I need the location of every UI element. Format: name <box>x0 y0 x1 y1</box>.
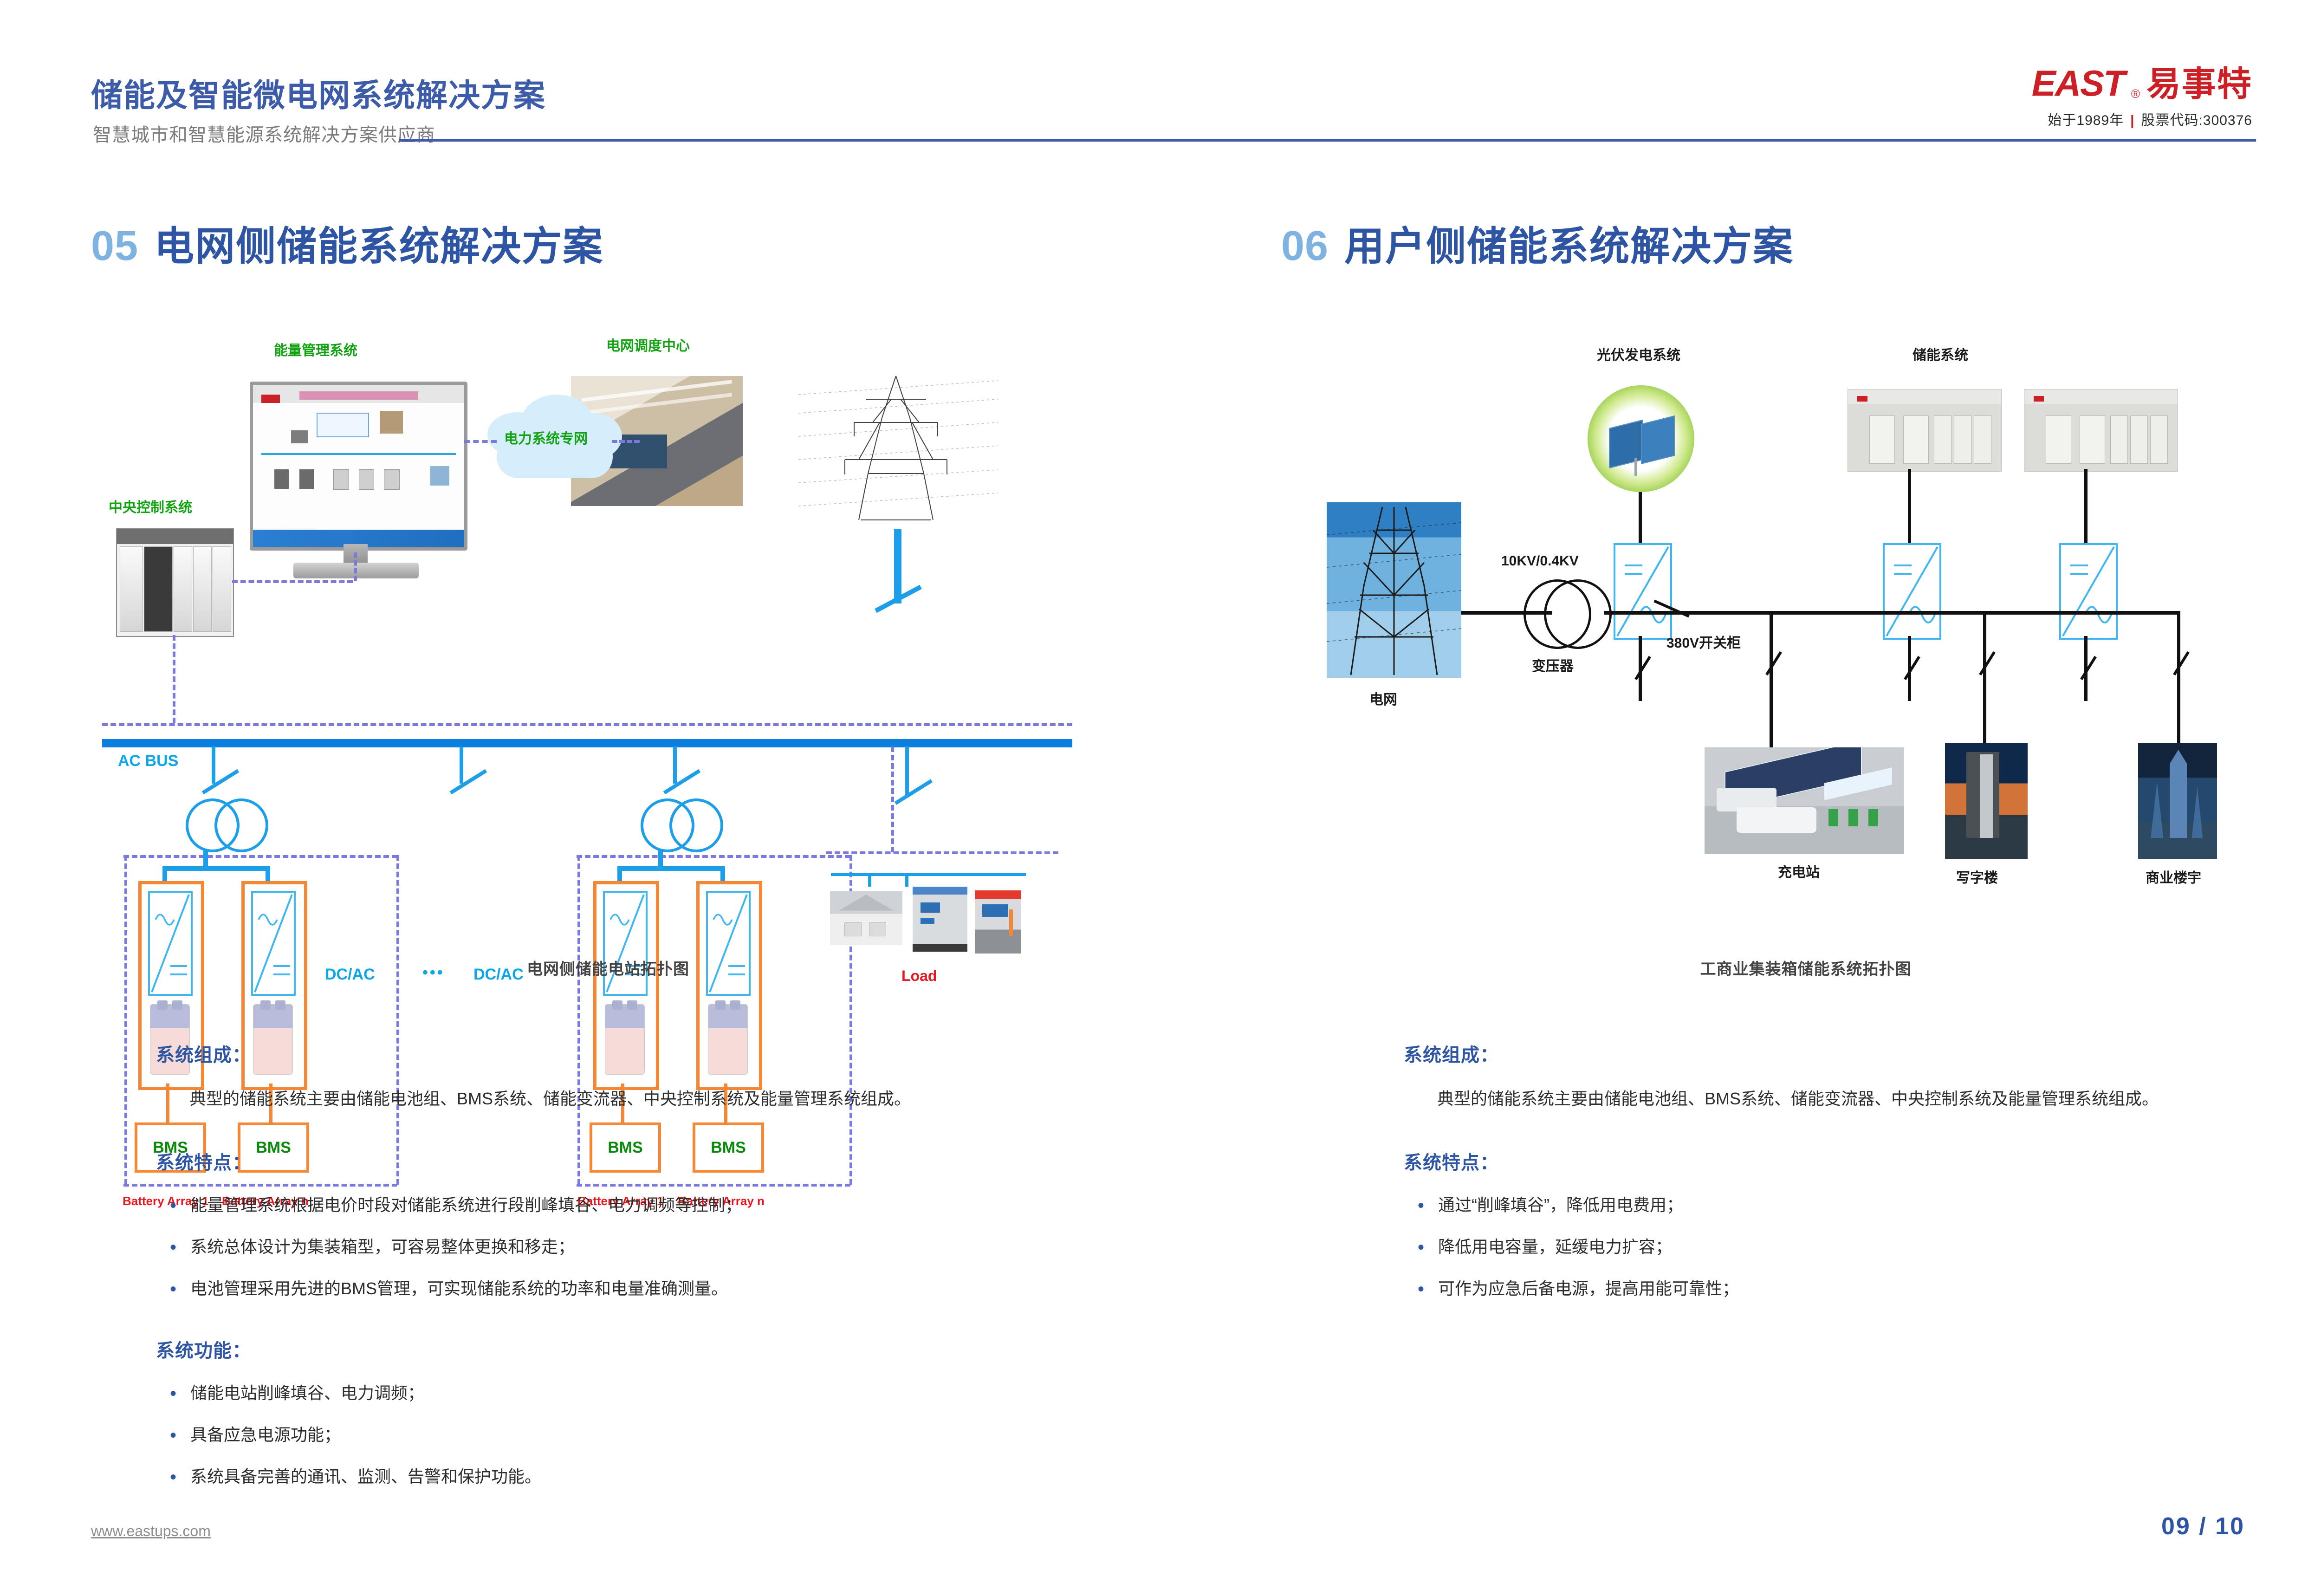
left-features-heading: 系统特点： <box>156 1148 1094 1174</box>
comm-loop-dashed <box>124 855 127 1185</box>
user-side-topology-diagram: 光伏发电系统 储能系统 <box>1300 334 2312 947</box>
list-item: 系统具备完善的通讯、监测、告警和保护功能。 <box>156 1464 1094 1490</box>
ems-screen-battery-5 <box>384 469 400 490</box>
comm-loop-dashed <box>123 855 397 858</box>
comm-link-dashed <box>612 440 640 443</box>
transformer-symbol <box>1524 579 1607 644</box>
ems-screen-title-text <box>299 391 418 400</box>
xfmr-to-pcs-wire <box>617 866 724 871</box>
breaker-symbol <box>2173 651 2190 675</box>
logo-founded: 始于1989年 <box>2048 113 2124 128</box>
comm-link-dashed <box>464 440 497 443</box>
right-features-heading: 系统特点： <box>1404 1148 2321 1174</box>
section-number: 06 <box>1281 222 1329 270</box>
left-column: 能量管理系统 电网调度中心 电力系统专网 <box>102 334 1114 947</box>
pv-inverter-symbol <box>1614 543 1672 640</box>
right-composition-body: 典型的储能系统主要由储能电池组、BMS系统、储能变流器、中央控制系统及能量管理系… <box>1404 1084 2321 1113</box>
left-functions-list: 储能电站削峰填谷、电力调频； 具备应急电源功能； 系统具备完善的通讯、监测、告警… <box>156 1380 1094 1489</box>
right-features-list: 通过“削峰填谷”，降低用电费用； 降低用电容量，延缓电力扩容； 可作为应急后备电… <box>1404 1192 2321 1301</box>
section-heading-06: 06 用户侧储能系统解决方案 <box>1281 214 1794 272</box>
logo-stock-code: 股票代码:300376 <box>2141 113 2252 128</box>
right-composition-heading: 系统组成： <box>1404 1040 2321 1067</box>
ems-label: 能量管理系统 <box>274 339 357 359</box>
ess-drop-wire-2 <box>2084 469 2088 543</box>
switchgear-label: 380V开关柜 <box>1666 631 1741 652</box>
breaker-symbol <box>2080 656 2097 680</box>
commercial-building-photo <box>2138 743 2217 859</box>
comm-link-dashed <box>173 635 175 723</box>
breaker-symbol <box>895 779 933 805</box>
left-diagram-caption: 电网侧储能电站拓扑图 <box>102 956 1114 979</box>
page-title: 储能及智能微电网系统解决方案 <box>91 70 546 116</box>
ems-monitor <box>250 382 467 551</box>
header-divider <box>399 139 2256 142</box>
right-text-block: 系统组成： 典型的储能系统主要由储能电池组、BMS系统、储能变流器、中央控制系统… <box>1404 1040 2321 1336</box>
xfmr-to-pcs-wire <box>162 866 269 871</box>
left-features-list: 能量管理系统根据电价时段对储能系统进行段削峰填谷、电力调频等控制； 系统总体设计… <box>156 1192 1094 1301</box>
transformer-ratio-label: 10KV/0.4KV <box>1501 553 1579 569</box>
load-drop-wire <box>868 873 871 887</box>
bus-drop-wire <box>673 746 677 784</box>
pcs-inverter-symbol <box>148 891 193 996</box>
left-composition-body: 典型的储能系统主要由储能电池组、BMS系统、储能变流器、中央控制系统及能量管理系… <box>156 1084 1094 1113</box>
ems-screen-battery-3 <box>333 469 349 490</box>
plc-module <box>213 546 231 632</box>
load-feeder-1 <box>1770 611 1773 750</box>
section-number: 05 <box>91 222 138 270</box>
right-diagram-caption: 工商业集装箱储能系统拓扑图 <box>1300 956 2312 979</box>
comm-link-dashed <box>891 746 894 852</box>
logo-tagline: 始于1989年|股票代码:300376 <box>2032 109 2252 129</box>
house-load-photo <box>830 891 902 945</box>
plc-module <box>193 546 212 632</box>
load-feeder-bus <box>831 873 1026 876</box>
ems-screen-panel <box>317 413 369 437</box>
ess-container-photo-2 <box>2024 389 2178 472</box>
charging-station-photo <box>1705 747 1904 854</box>
left-text-block: 系统组成： 典型的储能系统主要由储能电池组、BMS系统、储能变流器、中央控制系统… <box>156 1040 1094 1524</box>
pv-drop-wire <box>1639 492 1642 543</box>
ems-monitor-screen <box>253 385 464 547</box>
ess-system-label: 储能系统 <box>1913 344 1968 364</box>
breaker-symbol <box>1904 656 1920 680</box>
bus-drop-wire <box>905 746 909 798</box>
breaker-symbol <box>1634 656 1651 680</box>
ess-container-photo-1 <box>1848 389 2002 472</box>
left-functions-heading: 系统功能： <box>156 1336 1094 1362</box>
page-subtitle: 智慧城市和智慧能源系统解决方案供应商 <box>93 120 435 147</box>
pcs-inverter-symbol <box>603 891 648 996</box>
grid-tower-photo <box>1327 502 1461 678</box>
transformer-symbol <box>641 798 729 850</box>
ems-screen-bus <box>261 453 456 455</box>
ess-drop-wire-1 <box>1908 469 1911 543</box>
pcs-inverter-symbol <box>251 891 296 996</box>
page-header: 储能及智能微电网系统解决方案 智慧城市和智慧能源系统解决方案供应商 EAST ®… <box>0 0 2321 167</box>
ess-inverter-symbol-2 <box>2059 543 2118 640</box>
pcs-inverter-symbol <box>706 891 751 996</box>
ev-charger-photo <box>975 890 1021 954</box>
load-drop-wire <box>905 873 908 887</box>
ems-screen-photo <box>380 411 403 434</box>
load-label-commercial: 商业楼宇 <box>2146 866 2201 887</box>
transformer-label: 变压器 <box>1532 655 1574 675</box>
load-label-charging-station: 充电站 <box>1778 861 1820 881</box>
list-item: 具备应急电源功能； <box>156 1422 1094 1448</box>
load-label-office: 写字楼 <box>1956 866 1998 887</box>
grid-side-topology-diagram: 能量管理系统 电网调度中心 电力系统专网 <box>102 334 1114 947</box>
breaker-symbol <box>663 769 701 794</box>
list-item: 电池管理采用先进的BMS管理，可实现储能系统的功率和电量准确测量。 <box>156 1276 1094 1302</box>
right-column: 光伏发电系统 储能系统 <box>1300 334 2312 947</box>
private-network-label: 电力系统专网 <box>504 427 588 448</box>
left-composition-heading: 系统组成： <box>156 1040 1094 1067</box>
plc-rack <box>116 528 234 637</box>
breaker-symbol <box>1979 651 1996 675</box>
list-item: 可作为应急后备电源，提高用能可靠性； <box>1404 1276 2321 1302</box>
page-number: 09 / 10 <box>2161 1512 2245 1540</box>
breaker-symbol <box>450 769 487 794</box>
pv-system-icon <box>1588 385 1694 492</box>
ess-inverter-symbol-1 <box>1883 543 1941 640</box>
ac-bus-line <box>102 739 1072 747</box>
comm-link-dashed <box>354 552 357 581</box>
comm-loop-dashed <box>577 855 850 858</box>
dispatch-center-label: 电网调度中心 <box>606 334 690 355</box>
ems-screen-battery-4 <box>359 469 375 490</box>
breaker-symbol <box>202 769 240 794</box>
list-item: 通过“削峰填谷”，降低用电费用； <box>1404 1192 2321 1218</box>
section-heading-05: 05 电网侧储能系统解决方案 <box>91 214 603 272</box>
plc-module <box>120 546 143 632</box>
breaker-symbol <box>1765 651 1782 675</box>
ems-screen-battery-2 <box>299 469 314 489</box>
central-control-label: 中央控制系统 <box>109 496 192 516</box>
load-feeder-2 <box>1983 611 1986 750</box>
ems-screen-logo-icon <box>261 395 280 403</box>
brand-logo: EAST ® 易事特 始于1989年|股票代码:300376 <box>2032 65 2252 129</box>
section-title: 用户侧储能系统解决方案 <box>1344 214 1794 272</box>
pv-system-label: 光伏发电系统 <box>1597 344 1680 364</box>
load-feeder-3 <box>2177 611 2180 750</box>
list-item: 储能电站削峰填谷、电力调频； <box>156 1380 1094 1406</box>
bus-drop-wire <box>460 746 463 784</box>
logo-separator: | <box>2130 113 2134 128</box>
office-building-photo <box>1945 743 2028 859</box>
plc-cpu-module <box>144 546 173 632</box>
list-item: 降低用电容量，延缓电力扩容； <box>1404 1234 2321 1260</box>
comm-bus-dashed <box>102 723 1072 726</box>
list-item: 能量管理系统根据电价时段对储能系统进行段削峰填谷、电力调频等控制； <box>156 1192 1094 1218</box>
comm-link-dashed <box>232 580 353 583</box>
grid-label: 电网 <box>1369 688 1397 708</box>
bus-extension <box>2129 611 2180 615</box>
ems-screen-thumb <box>430 466 449 486</box>
transmission-tower-sketch <box>798 367 998 534</box>
footer-website-link[interactable]: www.eastups.com <box>91 1523 211 1540</box>
transformer-symbol <box>186 798 274 850</box>
ess-cabinet-photo <box>913 887 967 952</box>
logo-wordmark-en: EAST <box>2032 65 2125 101</box>
section-title: 电网侧储能系统解决方案 <box>154 214 603 272</box>
ems-screen-device <box>291 430 308 443</box>
ac-bus-label: AC BUS <box>118 752 178 770</box>
comm-link-dashed <box>826 851 1058 854</box>
logo-wordmark-cn: 易事特 <box>2146 67 2252 101</box>
bus-drop-wire <box>212 746 215 784</box>
tower-drop-wire <box>894 529 901 603</box>
ems-screen-battery-1 <box>274 469 289 489</box>
plc-module <box>174 546 192 632</box>
list-item: 系统总体设计为集装箱型，可容易整体更换和移走； <box>156 1234 1094 1260</box>
registered-trademark-icon: ® <box>2131 87 2140 101</box>
